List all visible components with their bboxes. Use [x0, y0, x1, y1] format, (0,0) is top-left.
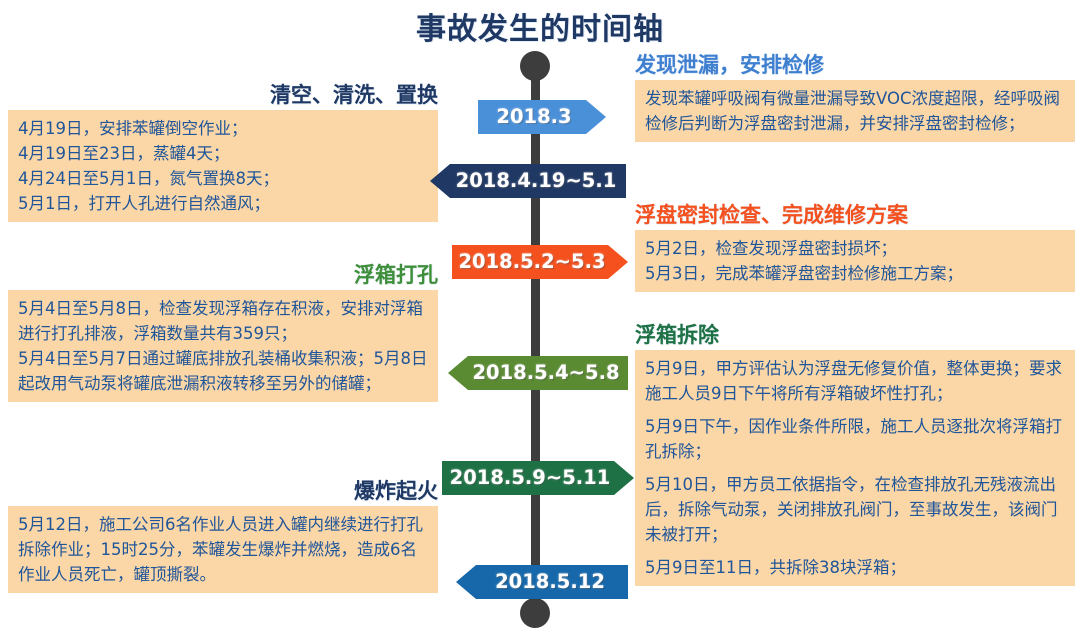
timeline-start-dot — [520, 51, 550, 81]
panel-right-3-line-3: 5月10日，甲方员工依据指令，在检查排放孔无残液流出后，拆除气动泵，关闭排放孔阀… — [645, 472, 1067, 547]
timeline-end-dot — [520, 598, 550, 628]
panel-left-2-line-2: 5月4日至5月7日通过罐底排放孔装桶收集积液；5月8日起改用气动泵将罐底泄漏积液… — [18, 346, 430, 396]
panel-right-3-body: 5月9日，甲方评估认为浮盘无修复价值，整体更换；要求施工人员9日下午将所有浮箱破… — [635, 350, 1075, 586]
panel-right-3-line-1: 5月9日，甲方评估认为浮盘无修复价值，整体更换；要求施工人员9日下午将所有浮箱破… — [645, 356, 1067, 406]
panel-right-3: 浮箱拆除 5月9日，甲方评估认为浮盘无修复价值，整体更换；要求施工人员9日下午将… — [635, 322, 1075, 586]
timeline-infographic: 事故发生的时间轴 清空、清洗、置换 4月19日，安排苯罐倒空作业； 4月19日至… — [0, 0, 1080, 643]
panel-left-3-line-1: 5月12日，施工公司6名作业人员进入罐内继续进行打孔拆除作业；15时25分，苯罐… — [18, 512, 430, 587]
timeline-tag-2018-4-19[interactable]: 2018.4.19~5.1 — [430, 164, 626, 198]
panel-right-2-line-1: 5月2日，检查发现浮盘密封损坏； — [645, 236, 1067, 261]
panel-left-1: 清空、清洗、置换 4月19日，安排苯罐倒空作业； 4月19日至23日，蒸罐4天；… — [8, 82, 438, 222]
panel-left-2-body: 5月4日至5月8日，检查发现浮箱存在积液，安排对浮箱进行打孔排液，浮箱数量共有3… — [8, 290, 438, 402]
panel-left-1-body: 4月19日，安排苯罐倒空作业； 4月19日至23日，蒸罐4天； 4月24日至5月… — [8, 110, 438, 222]
panel-left-2-line-1: 5月4日至5月8日，检查发现浮箱存在积液，安排对浮箱进行打孔排液，浮箱数量共有3… — [18, 296, 430, 346]
timeline-tag-2018-5-9[interactable]: 2018.5.9~5.11 — [442, 461, 634, 495]
panel-left-3-heading: 爆炸起火 — [8, 478, 438, 504]
panel-left-1-line-4: 5月1日，打开人孔进行自然通风； — [18, 191, 430, 216]
timeline-tag-2018-5-2[interactable]: 2018.5.2~5.3 — [452, 245, 628, 279]
panel-right-2-line-2: 5月3日，完成苯罐浮盘密封检修施工方案； — [645, 261, 1067, 286]
panel-left-2: 浮箱打孔 5月4日至5月8日，检查发现浮箱存在积液，安排对浮箱进行打孔排液，浮箱… — [8, 262, 438, 402]
timeline-tag-2018-3[interactable]: 2018.3 — [478, 100, 606, 134]
timeline-axis — [531, 60, 540, 626]
panel-left-1-heading: 清空、清洗、置换 — [8, 82, 438, 108]
panel-right-1-body: 发现苯罐呼吸阀有微量泄漏导致VOC浓度超限，经呼吸阀检修后判断为浮盘密封泄漏，并… — [635, 80, 1075, 142]
panel-left-1-line-2: 4月19日至23日，蒸罐4天； — [18, 141, 430, 166]
panel-left-1-line-1: 4月19日，安排苯罐倒空作业； — [18, 116, 430, 141]
panel-right-2: 浮盘密封检查、完成维修方案 5月2日，检查发现浮盘密封损坏； 5月3日，完成苯罐… — [635, 202, 1075, 292]
panel-right-3-line-2: 5月9日下午，因作业条件所限，施工人员逐批次将浮箱打孔拆除； — [645, 414, 1067, 464]
panel-right-2-heading: 浮盘密封检查、完成维修方案 — [635, 202, 1075, 228]
panel-right-1: 发现泄漏，安排检修 发现苯罐呼吸阀有微量泄漏导致VOC浓度超限，经呼吸阀检修后判… — [635, 52, 1075, 142]
panel-right-1-heading: 发现泄漏，安排检修 — [635, 52, 1075, 78]
panel-left-2-heading: 浮箱打孔 — [8, 262, 438, 288]
panel-left-1-line-3: 4月24日至5月1日，氮气置换8天； — [18, 166, 430, 191]
panel-left-3: 爆炸起火 5月12日，施工公司6名作业人员进入罐内继续进行打孔拆除作业；15时2… — [8, 478, 438, 593]
panel-right-3-line-4: 5月9日至11日，共拆除38块浮箱； — [645, 555, 1067, 580]
panel-right-3-heading: 浮箱拆除 — [635, 322, 1075, 348]
panel-left-3-body: 5月12日，施工公司6名作业人员进入罐内继续进行打孔拆除作业；15时25分，苯罐… — [8, 506, 438, 593]
timeline-tag-2018-5-4[interactable]: 2018.5.4~5.8 — [448, 356, 628, 390]
timeline-tag-2018-5-12[interactable]: 2018.5.12 — [456, 565, 628, 599]
page-title: 事故发生的时间轴 — [0, 4, 1080, 48]
panel-right-1-line-1: 发现苯罐呼吸阀有微量泄漏导致VOC浓度超限，经呼吸阀检修后判断为浮盘密封泄漏，并… — [645, 86, 1067, 136]
panel-right-2-body: 5月2日，检查发现浮盘密封损坏； 5月3日，完成苯罐浮盘密封检修施工方案； — [635, 230, 1075, 292]
